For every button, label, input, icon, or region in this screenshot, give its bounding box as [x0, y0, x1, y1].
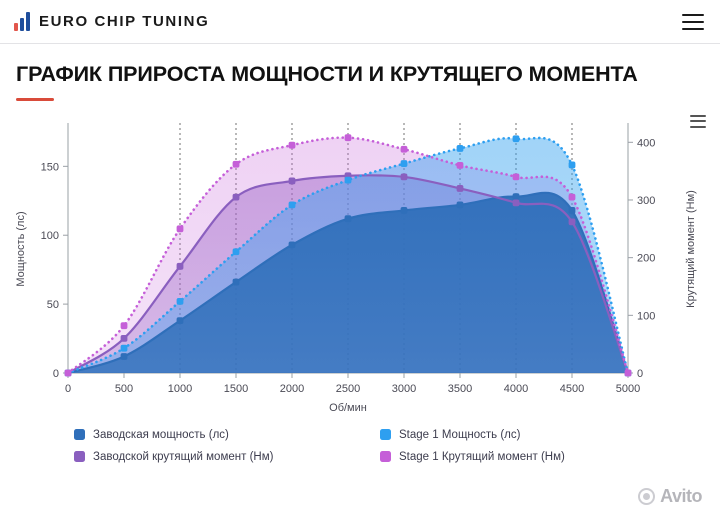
legend-marker-stage1-torque: [380, 451, 391, 462]
avito-watermark-text: Avito: [660, 486, 702, 507]
legend-item-stock-power[interactable]: Заводская мощность (лс): [74, 429, 368, 441]
logo-icon: [14, 12, 30, 31]
svg-text:150: 150: [41, 161, 59, 173]
page-title: ГРАФИК ПРИРОСТА МОЩНОСТИ И КРУТЯЩЕГО МОМ…: [16, 62, 704, 87]
svg-text:0: 0: [53, 368, 59, 380]
svg-text:2000: 2000: [280, 383, 304, 395]
legend-label-stock-torque: Заводской крутящий момент (Нм): [93, 451, 273, 463]
legend-marker-stock-torque: [74, 451, 85, 462]
avito-watermark: Avito: [638, 486, 702, 507]
legend-label-stage1-torque: Stage 1 Крутящий момент (Нм): [399, 451, 565, 463]
svg-text:0: 0: [637, 368, 643, 380]
legend-label-stock-power: Заводская мощность (лс): [93, 429, 229, 441]
svg-text:Об/мин: Об/мин: [329, 402, 367, 414]
svg-text:Мощность (лс): Мощность (лс): [15, 211, 27, 286]
legend-marker-stage1-power: [380, 429, 391, 440]
chart-container: 0501001500100200300400050010001500200025…: [0, 111, 720, 501]
svg-text:5000: 5000: [616, 383, 640, 395]
svg-text:200: 200: [637, 252, 655, 264]
chart-legend: Заводская мощность (лс) Stage 1 Мощность…: [74, 429, 674, 463]
svg-text:0: 0: [65, 383, 71, 395]
hamburger-icon[interactable]: [682, 14, 704, 30]
svg-text:3500: 3500: [448, 383, 472, 395]
svg-text:100: 100: [637, 310, 655, 322]
svg-text:4000: 4000: [504, 383, 528, 395]
legend-label-stage1-power: Stage 1 Мощность (лс): [399, 429, 520, 441]
page-root: EURO CHIP TUNING ГРАФИК ПРИРОСТА МОЩНОСТ…: [0, 0, 720, 517]
legend-item-stage1-power[interactable]: Stage 1 Мощность (лс): [380, 429, 674, 441]
svg-text:300: 300: [637, 195, 655, 207]
svg-text:3000: 3000: [392, 383, 416, 395]
legend-item-stage1-torque[interactable]: Stage 1 Крутящий момент (Нм): [380, 451, 674, 463]
legend-marker-stock-power: [74, 429, 85, 440]
svg-text:Крутящий момент (Нм): Крутящий момент (Нм): [685, 190, 697, 308]
svg-text:50: 50: [47, 299, 59, 311]
title-block: ГРАФИК ПРИРОСТА МОЩНОСТИ И КРУТЯЩЕГО МОМ…: [0, 44, 720, 101]
power-torque-chart: 0501001500100200300400050010001500200025…: [0, 111, 720, 431]
svg-text:2500: 2500: [336, 383, 360, 395]
legend-item-stock-torque[interactable]: Заводской крутящий момент (Нм): [74, 451, 368, 463]
avito-logo-icon: [638, 488, 655, 505]
brand-name: EURO CHIP TUNING: [39, 13, 209, 30]
svg-text:1000: 1000: [168, 383, 192, 395]
svg-text:500: 500: [115, 383, 133, 395]
title-underline: [16, 98, 54, 101]
svg-text:4500: 4500: [560, 383, 584, 395]
brand[interactable]: EURO CHIP TUNING: [14, 12, 209, 31]
site-header: EURO CHIP TUNING: [0, 0, 720, 44]
svg-text:1500: 1500: [224, 383, 248, 395]
svg-text:400: 400: [637, 137, 655, 149]
svg-text:100: 100: [41, 230, 59, 242]
